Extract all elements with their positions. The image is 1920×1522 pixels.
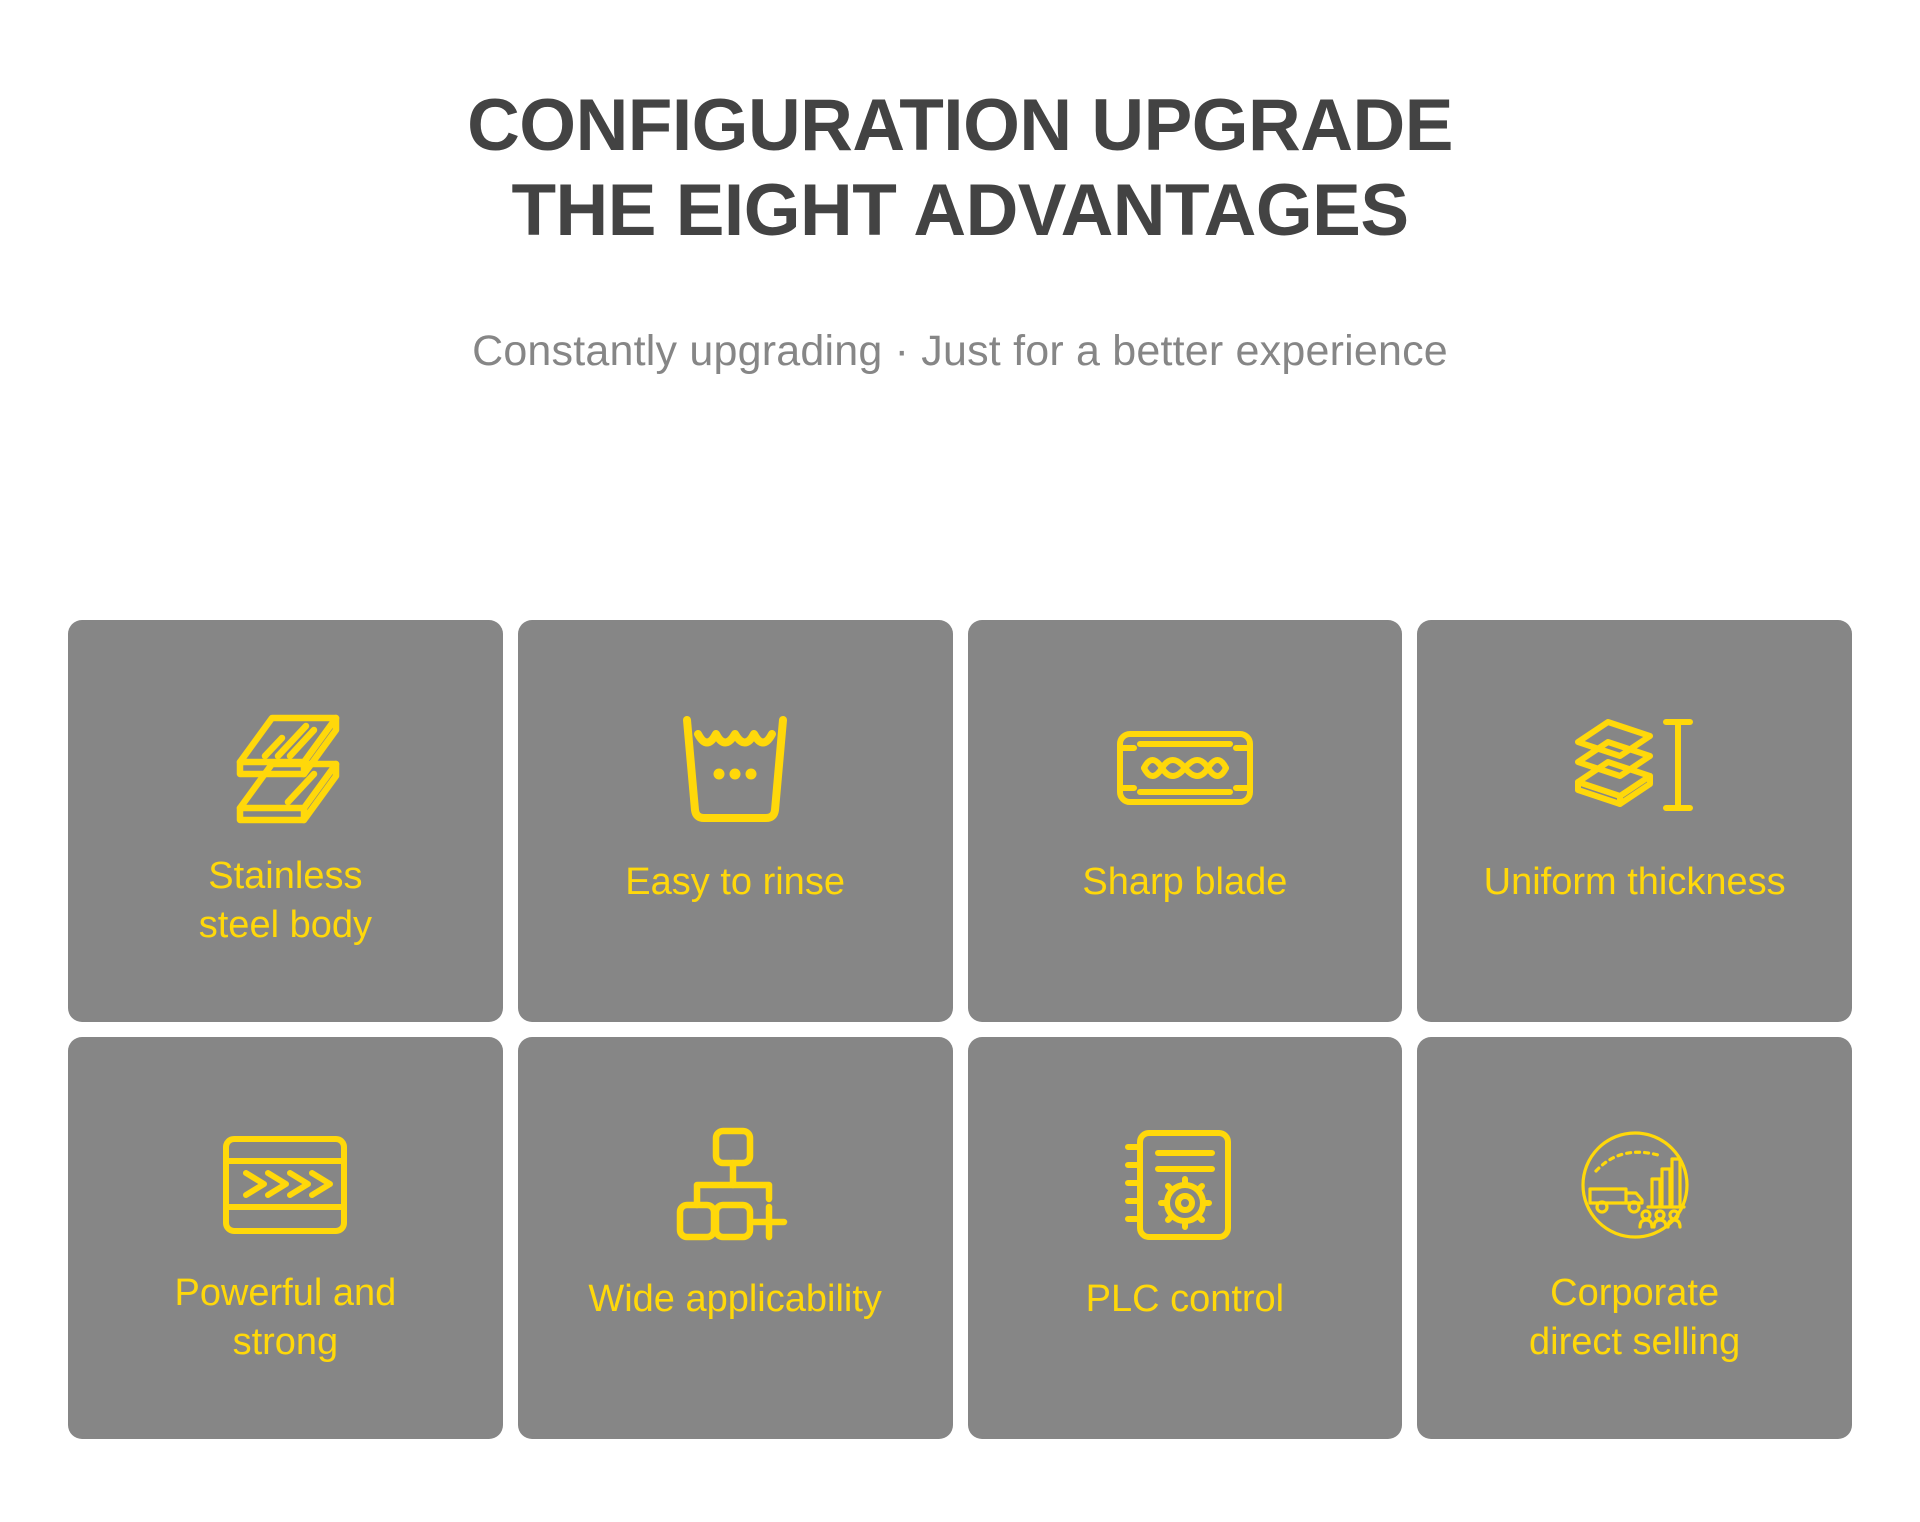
layers-measure-icon	[1560, 704, 1710, 832]
node-tree-plus-icon	[660, 1121, 810, 1249]
advantage-card-label: Uniform thickness	[1417, 858, 1852, 907]
stacked-plates-icon	[210, 704, 360, 832]
page-subtitle: Constantly upgrading · Just for a better…	[0, 327, 1920, 376]
page-header: CONFIGURATION UPGRADE THE EIGHT ADVANTAG…	[0, 0, 1920, 376]
advantage-card-powerful-and-strong[interactable]: Powerful and strong	[68, 1037, 503, 1439]
advantage-card-label: Powerful and strong	[68, 1269, 503, 1366]
advantage-card-label: Sharp blade	[968, 858, 1403, 907]
advantage-card-corporate-direct-selling[interactable]: Corporate direct selling	[1417, 1037, 1852, 1439]
advantage-card-sharp-blade[interactable]: Sharp blade	[968, 620, 1403, 1022]
plc-notebook-gear-icon	[1110, 1121, 1260, 1249]
factory-delivery-circle-icon	[1560, 1121, 1710, 1249]
advantage-card-label: Wide applicability	[518, 1275, 953, 1324]
advantage-card-wide-applicability[interactable]: Wide applicability	[518, 1037, 953, 1439]
advantage-card-uniform-thickness[interactable]: Uniform thickness	[1417, 620, 1852, 1022]
advantage-card-plc-control[interactable]: PLC control	[968, 1037, 1403, 1439]
advantages-grid: Stainless steel body Easy to rinse	[68, 620, 1852, 1439]
page-title-line-1: CONFIGURATION UPGRADE	[0, 84, 1920, 169]
wash-basin-icon	[660, 704, 810, 832]
advantage-card-stainless-steel-body[interactable]: Stainless steel body	[68, 620, 503, 1022]
advantage-card-label: PLC control	[968, 1275, 1403, 1324]
advantage-card-label: Easy to rinse	[518, 858, 953, 907]
advantage-card-label: Corporate direct selling	[1417, 1269, 1852, 1366]
razor-blade-icon	[1110, 704, 1260, 832]
advantages-infographic: CONFIGURATION UPGRADE THE EIGHT ADVANTAG…	[0, 0, 1920, 1522]
power-arrows-icon	[210, 1121, 360, 1249]
page-title-line-2: THE EIGHT ADVANTAGES	[0, 169, 1920, 254]
page-title: CONFIGURATION UPGRADE THE EIGHT ADVANTAG…	[0, 84, 1920, 253]
advantage-card-easy-to-rinse[interactable]: Easy to rinse	[518, 620, 953, 1022]
advantage-card-label: Stainless steel body	[68, 852, 503, 949]
